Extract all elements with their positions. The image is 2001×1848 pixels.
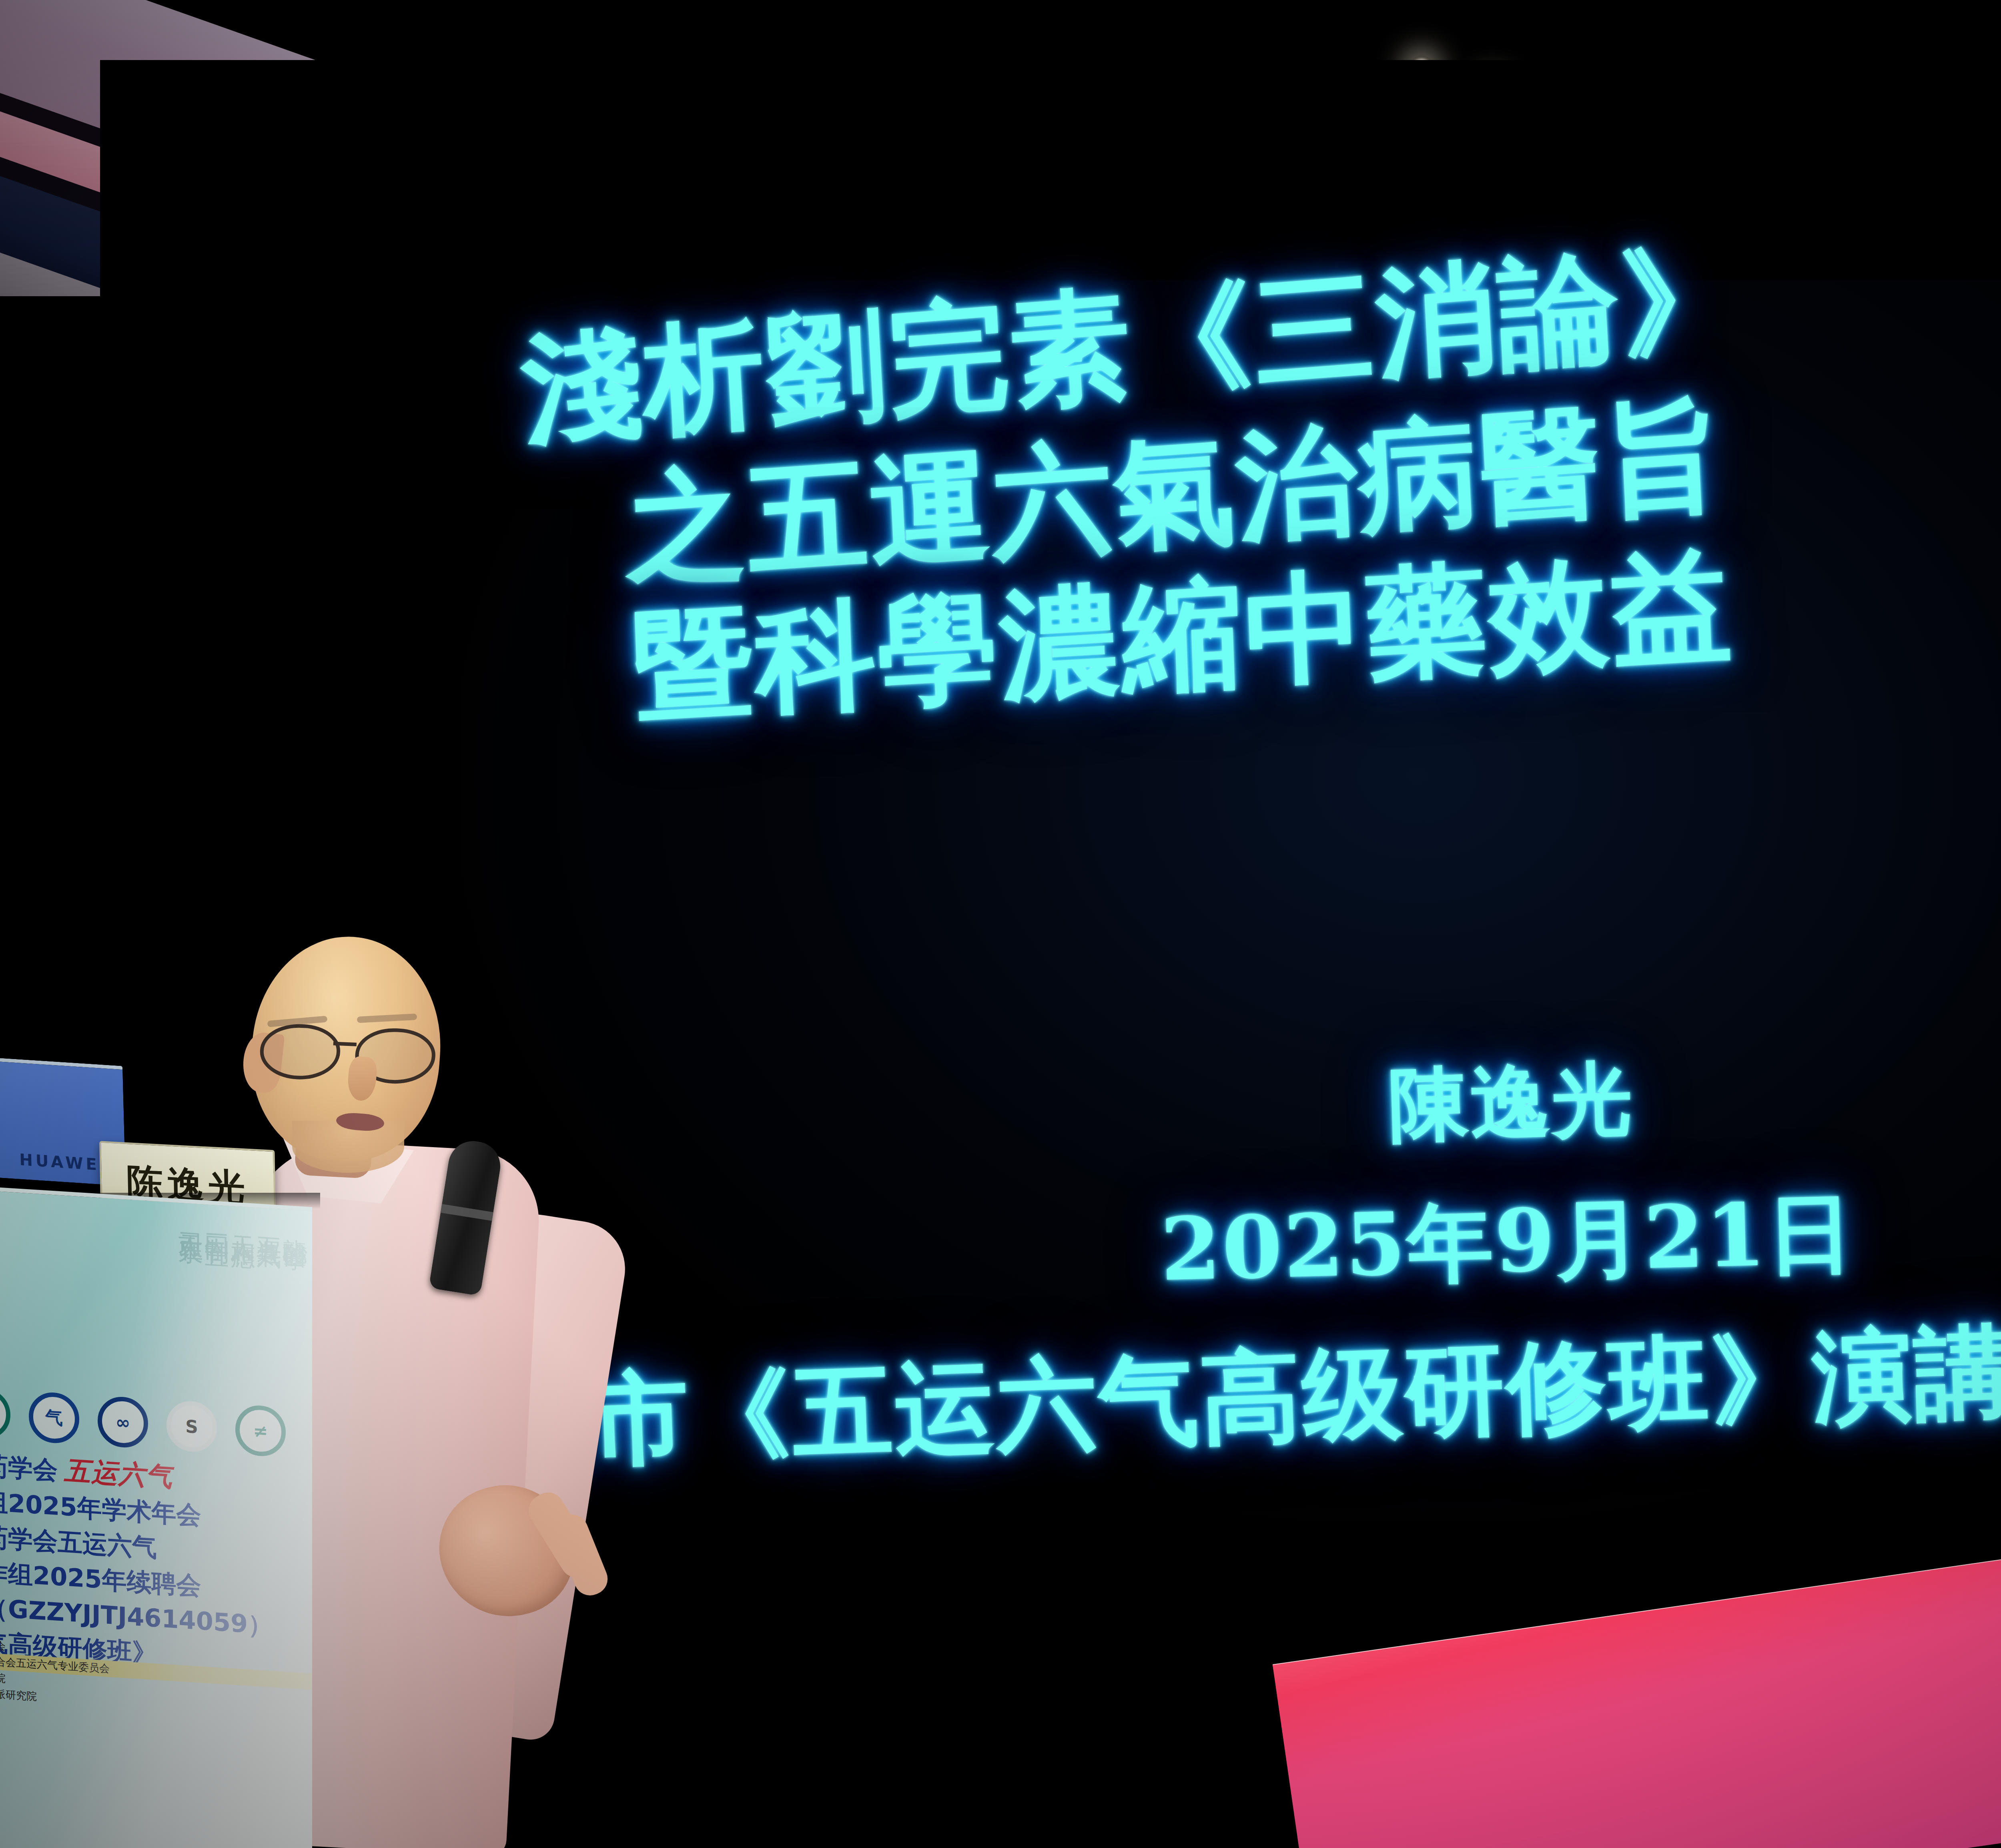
microphone-band [441,1204,493,1221]
logo-hospital-icon: ∞ [98,1395,148,1449]
slide-date: 2025年9月21日 [1159,1176,1857,1309]
logo-institute-icon: ≠ [235,1404,286,1458]
stage-photo: 淺析劉完素《三消論》 之五運六氣治病醫旨 暨科學濃縮中藥效益 陳逸光 2025年… [0,0,2001,1848]
eyeglass-lens-left [259,1023,341,1082]
podium-banner: 龍砂醫學 五運六氣 天人相應 三因制宜 司天在泉 医 气 ∞ S ≠ 中华中医药… [0,1186,312,1848]
logo-longsha-icon: S [166,1400,217,1453]
podium-headline-calligraphy: 五运六气 [64,1455,173,1493]
podium-headline-prefix: 中华中医药学会 [0,1445,58,1485]
eyeglasses-icon [254,1020,441,1084]
podium-calligraphy-watermark: 龍砂醫學 五運六氣 天人相應 三因制宜 司天在泉 [0,1190,312,1419]
slide-event-line: 無錫市《五运六气高级研修班》演講 [382,1304,2001,1496]
laptop-brand-label: HUAWEI [19,1150,108,1174]
logo-wfcms-icon: 气 [29,1391,79,1445]
slide-speaker-name: 陳逸光 [1387,1045,1635,1160]
logo-cacm-icon: 医 [0,1387,10,1440]
